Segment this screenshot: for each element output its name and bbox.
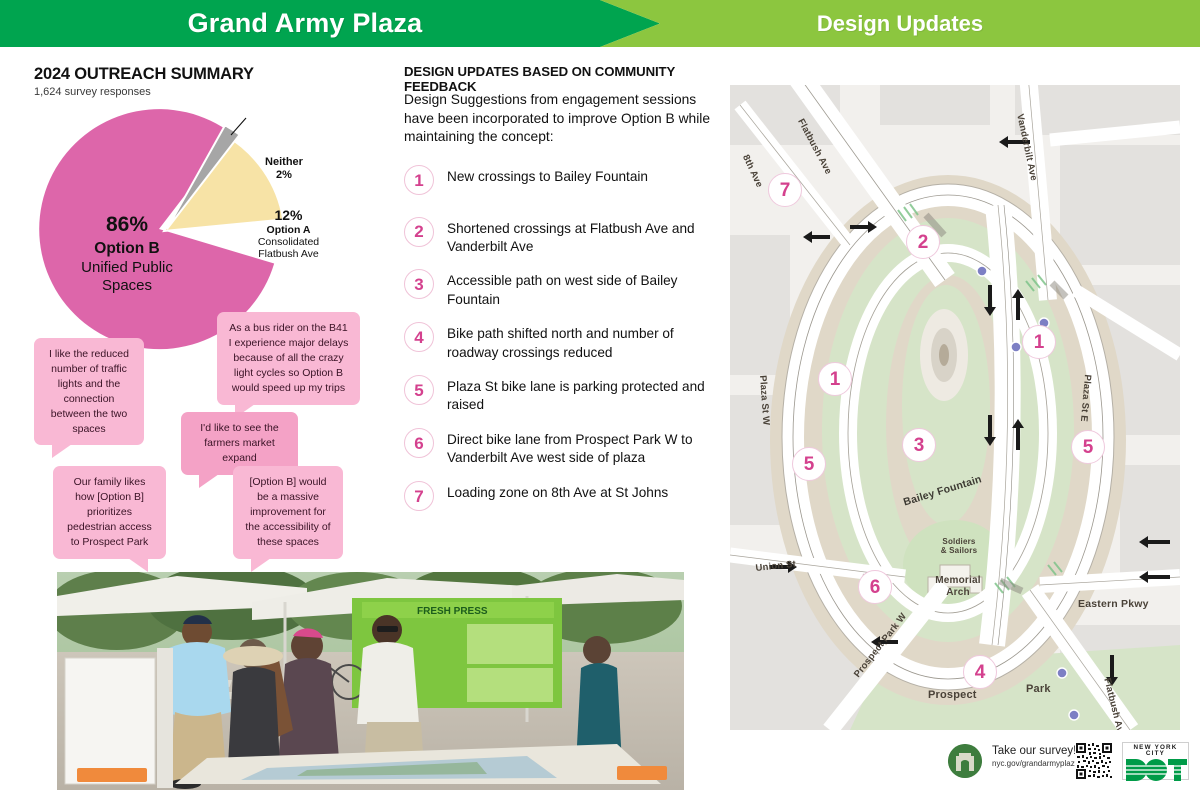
outreach-response-count: 1,624 survey responses <box>34 86 151 98</box>
quote-bubble-5: [Option B] would be a massive improvemen… <box>233 466 343 559</box>
map-marker-2: 2 <box>906 225 940 259</box>
design-updates-intro: Design Suggestions from engagement sessi… <box>404 91 722 147</box>
nyc-dot-logo: NEW YORK CITY <box>1122 742 1189 780</box>
agency-jurisdiction-text: NEW YORK CITY <box>1126 745 1185 758</box>
survey-cta-text: Take our survey! <box>992 745 1079 757</box>
map-marker-5-west: 5 <box>792 447 826 481</box>
map-marker-3: 3 <box>902 428 936 462</box>
map-label-park: Park <box>1026 683 1051 695</box>
update-text-2: Shortened crossings at Flatbush Ave and … <box>447 219 726 256</box>
header-section-title: Design Updates <box>817 11 983 37</box>
qr-code-icon <box>1075 742 1113 780</box>
quote-bubble-4: Our family likes how [Option B] prioriti… <box>53 466 166 559</box>
grand-army-plaza-map: 7 2 1 1 3 5 5 6 4 Flatbush Ave 8th Ave V… <box>730 85 1180 730</box>
left-column: 2024 OUTREACH SUMMARY 1,624 survey respo… <box>0 47 400 800</box>
header-right-banner: Design Updates <box>600 0 1200 47</box>
update-text-5: Plaza St bike lane is parking protected … <box>447 377 726 414</box>
map-label-memorial-arch: MemorialArch <box>926 575 990 598</box>
list-item: 4 Bike path shifted north and number of … <box>404 324 726 361</box>
list-item: 6 Direct bike lane from Prospect Park W … <box>404 430 726 467</box>
number-badge-5: 5 <box>404 375 434 405</box>
header-left-banner: Grand Army Plaza <box>0 0 660 47</box>
list-item: 5 Plaza St bike lane is parking protecte… <box>404 377 726 414</box>
number-badge-7: 7 <box>404 481 434 511</box>
dot-wordmark <box>1126 758 1187 782</box>
poster-page: Grand Army Plaza Design Updates 2024 OUT… <box>0 0 1200 800</box>
quote-bubble-2: As a bus rider on the B41 I experience m… <box>217 312 360 405</box>
update-text-4: Bike path shifted north and number of ro… <box>447 324 726 361</box>
map-marker-4: 4 <box>963 655 997 689</box>
number-badge-4: 4 <box>404 322 434 352</box>
survey-url-text: nyc.gov/grandarmyplaza <box>992 759 1079 768</box>
update-text-6: Direct bike lane from Prospect Park W to… <box>447 430 726 467</box>
map-marker-5-east: 5 <box>1071 430 1105 464</box>
memorial-arch-icon <box>948 744 982 778</box>
quote-bubble-1: I like the reduced number of traffic lig… <box>34 338 144 445</box>
number-badge-2: 2 <box>404 217 434 247</box>
map-marker-7: 7 <box>768 173 802 207</box>
page-header: Grand Army Plaza Design Updates <box>0 0 1200 47</box>
map-label-prospect: Prospect <box>928 689 977 701</box>
update-text-1: New crossings to Bailey Fountain <box>447 167 648 186</box>
number-badge-3: 3 <box>404 269 434 299</box>
list-item: 3 Accessible path on west side of Bailey… <box>404 271 726 308</box>
qr-code[interactable] <box>1075 742 1113 780</box>
map-marker-1-east: 1 <box>1022 325 1056 359</box>
map-label-eastern-pkwy: Eastern Pkwy <box>1078 598 1149 610</box>
list-item: 2 Shortened crossings at Flatbush Ave an… <box>404 219 726 256</box>
list-item: 1 New crossings to Bailey Fountain <box>404 167 726 203</box>
number-badge-6: 6 <box>404 428 434 458</box>
update-text-3: Accessible path on west side of Bailey F… <box>447 271 726 308</box>
design-updates-title: DESIGN UPDATES BASED ON COMMUNITY FEEDBA… <box>404 64 730 94</box>
update-text-7: Loading zone on 8th Ave at St Johns <box>447 483 668 502</box>
page-title: Grand Army Plaza <box>188 8 473 39</box>
survey-callout[interactable]: Take our survey! nyc.gov/grandarmyplaza <box>992 745 1079 768</box>
page-footer: Take our survey! nyc.gov/grandarmyplaza <box>730 740 1190 796</box>
neither-leader-line <box>231 118 246 135</box>
arch-glyph <box>948 744 982 778</box>
list-item: 7 Loading zone on 8th Ave at St Johns <box>404 483 726 519</box>
map-marker-1-west: 1 <box>818 362 852 396</box>
map-label-soldiers-sailors: Soldiers& Sailors <box>928 537 990 555</box>
design-updates-list: 1 New crossings to Bailey Fountain 2 Sho… <box>404 167 726 535</box>
number-badge-1: 1 <box>404 165 434 195</box>
outreach-summary-title: 2024 OUTREACH SUMMARY <box>34 65 254 84</box>
design-updates-column: DESIGN UPDATES BASED ON COMMUNITY FEEDBA… <box>400 47 730 800</box>
map-marker-6: 6 <box>858 570 892 604</box>
